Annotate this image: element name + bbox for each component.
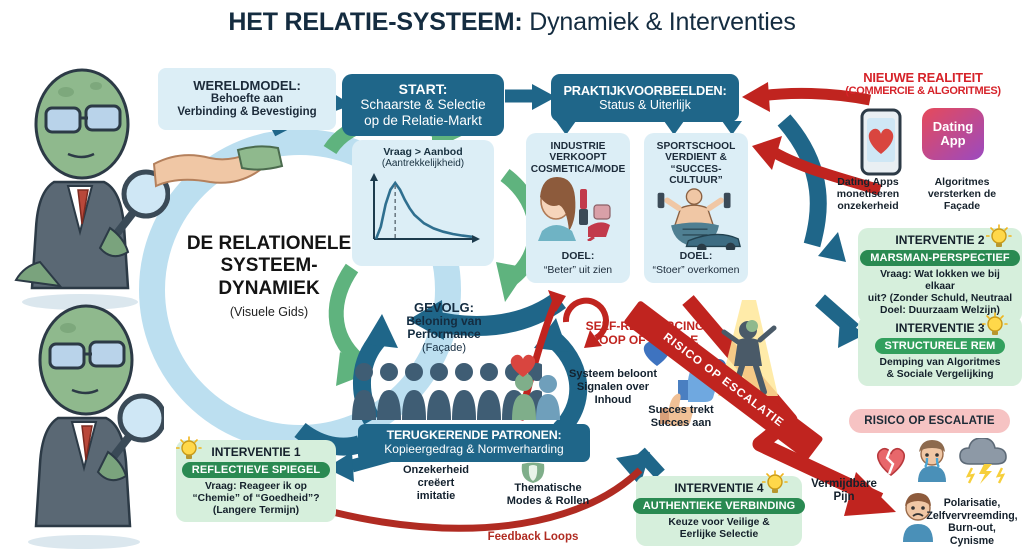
label-onzekerheid: Onzekerheid creëert imitatie [386,464,486,502]
intervention-body: Vraag: Wat lokken we bij elkaar uit? (Zo… [864,269,1016,318]
case-card-sportschool: SPORTSCHOOL VERDIENT & “SUCCES-CULTUUR” … [644,133,748,283]
gevolg-line1: Beloning van [378,315,510,328]
intervention-pill: REFLECTIEVE SPIEGEL [182,462,330,478]
page-title-bold: HET RELATIE-SYSTEEM: [228,8,522,36]
intervention-title: INTERVENTIE 4 [674,481,763,495]
chart-plot [352,169,492,255]
storm-cloud-icon [958,438,1016,484]
central-line3: DYNAMIEK [170,278,368,300]
lightbulb-icon [762,470,788,496]
caption-dating-apps: Dating Apps monetiseren onzekerheid [822,177,914,213]
escalation-outcomes-label: Polarisatie, Zelfvervreemding, Burn-out,… [920,497,1024,548]
page-title-rest: Dynamiek & Interventies [523,8,796,36]
central-sub: (Visuele Gids) [170,305,368,319]
start-line1: Schaarste & Selectie [360,97,485,113]
central-title: DE RELATIONELE SYSTEEM- DYNAMIEK (Visuel… [170,233,368,319]
terug-heading: TERUGKERENDE PATRONEN: [387,429,562,443]
intervention-title: INTERVENTIE 2 [895,233,984,247]
intervention-body: Demping van Algoritmes & Sociale Vergeli… [880,357,1001,381]
start-line2: op de Relatie-Markt [364,113,482,129]
vraag-aanbod-chart-card: Vraag > Aanbod (Aantrekkelijkheid) [352,140,494,266]
praktijk-heading: PRAKTIJKVOORBEELDEN: [563,84,726,98]
alien-observer-bottom-icon [14,300,164,550]
vermijdbare-pijn-label: Vermijdbare Pijn [798,478,890,504]
bodybuilder-sportscar-icon [648,187,744,250]
broken-heart-icon [874,443,908,477]
wereldmodel-line1: Behoefte aan [211,93,283,106]
heart-icon [508,352,538,378]
makeup-woman-icon [530,175,626,241]
wereldmodel-line2: Verbinding & Bevestiging [177,106,316,119]
dating-app-label: Dating App [933,120,973,149]
intervention-title: INTERVENTIE 3 [895,321,984,335]
praktijk-sub: Status & Uiterlijk [599,98,691,112]
intervention-pill: AUTHENTIEKE VERBINDING [633,498,806,514]
central-line1: DE RELATIONELE [170,233,368,255]
case-heading: INDUSTRIE VERKOOPT COSMETICA/MODE [526,141,630,175]
chart-title: Vraag > Aanbod [352,146,494,158]
red-arrow-head-1 [742,82,770,112]
intervention-pill: MARSMAN-PERSPECTIEF [860,250,1019,266]
lightbulb-icon [986,224,1012,250]
terugkerende-patronen-card: TERUGKERENDE PATRONEN: Kopieergedrag & N… [358,424,590,462]
mask-roles-icon [518,462,548,484]
handshake-icon [148,130,298,200]
nieuwe-realiteit-heading: NIEUWE REALITEIT (COMMERCIE & ALGORITMES… [824,70,1022,97]
arrow-right-descent [784,120,818,245]
phone-heart-icon [856,108,908,178]
nieuwe-realiteit-title: NIEUWE REALITEIT [824,70,1022,85]
intervention-body: Keuze voor Veilige & Eerlijke Selectie [668,517,769,541]
caption-algoritmes: Algoritmes versterken de Façade [910,177,1014,213]
alien-observer-top-icon [10,62,170,310]
feedback-loops-label: Feedback Loops [468,531,598,543]
wereldmodel-heading: WERELDMODEL: [193,79,301,94]
label-succes-trekt: Succes trekt Succes aan [628,404,734,430]
case-goal-label: DOEL: [680,250,713,262]
lightbulb-icon [982,312,1008,338]
case-goal-label: DOEL: [562,250,595,262]
chart-series-line [376,183,472,239]
dating-app-icon: Dating App [922,108,984,160]
lightbulb-icon [176,436,202,462]
gevolg-sub: (Façade) [378,342,510,354]
label-thematische-modes: Thematische Modes & Rollen [494,482,602,508]
green-arrow-head-2 [496,262,528,302]
wereldmodel-card: WERELDMODEL: Behoefte aan Verbinding & B… [158,68,336,130]
terug-sub: Kopieergedrag & Normverharding [384,443,563,456]
page-title: HET RELATIE-SYSTEEM: Dynamiek & Interven… [0,8,1024,37]
praktijkvoorbeelden-card: PRAKTIJKVOORBEELDEN: Status & Uiterlijk [551,74,739,122]
crying-person-icon [912,440,952,482]
label-systeem-beloont: Systeem beloont Signalen over Inhoud [556,368,670,406]
risico-escalatie-pill: RISICO OP ESCALATIE [849,409,1010,433]
intervention-body: Vraag: Reageer ik op “Chemie” of “Goedhe… [192,481,319,517]
case-card-cosmetica: INDUSTRIE VERKOOPT COSMETICA/MODE DOEL: … [526,133,630,283]
start-heading: START: [399,82,448,98]
case-heading: SPORTSCHOOL VERDIENT & “SUCCES-CULTUUR” [644,141,748,187]
gevolg-heading: GEVOLG: [378,300,510,315]
case-goal-text: “Beter” uit zien [544,264,612,276]
central-line2: SYSTEEM- [170,255,368,277]
gevolg-card: GEVOLG: Beloning van Performance (Façade… [378,300,510,354]
intervention-pill: STRUCTURELE REM [875,338,1006,354]
gevolg-line2: Performance [378,328,510,341]
chart-subtitle: (Aantrekkelijkheid) [352,158,494,169]
start-card: START: Schaarste & Selectie op de Relati… [342,74,504,136]
intervention-title: INTERVENTIE 1 [211,445,300,459]
nieuwe-realiteit-sub: (COMMERCIE & ALGORITMES) [824,85,1022,97]
infographic-canvas: HET RELATIE-SYSTEEM: Dynamiek & Interven… [0,0,1024,559]
case-goal-text: “Stoer” overkomen [653,264,740,276]
